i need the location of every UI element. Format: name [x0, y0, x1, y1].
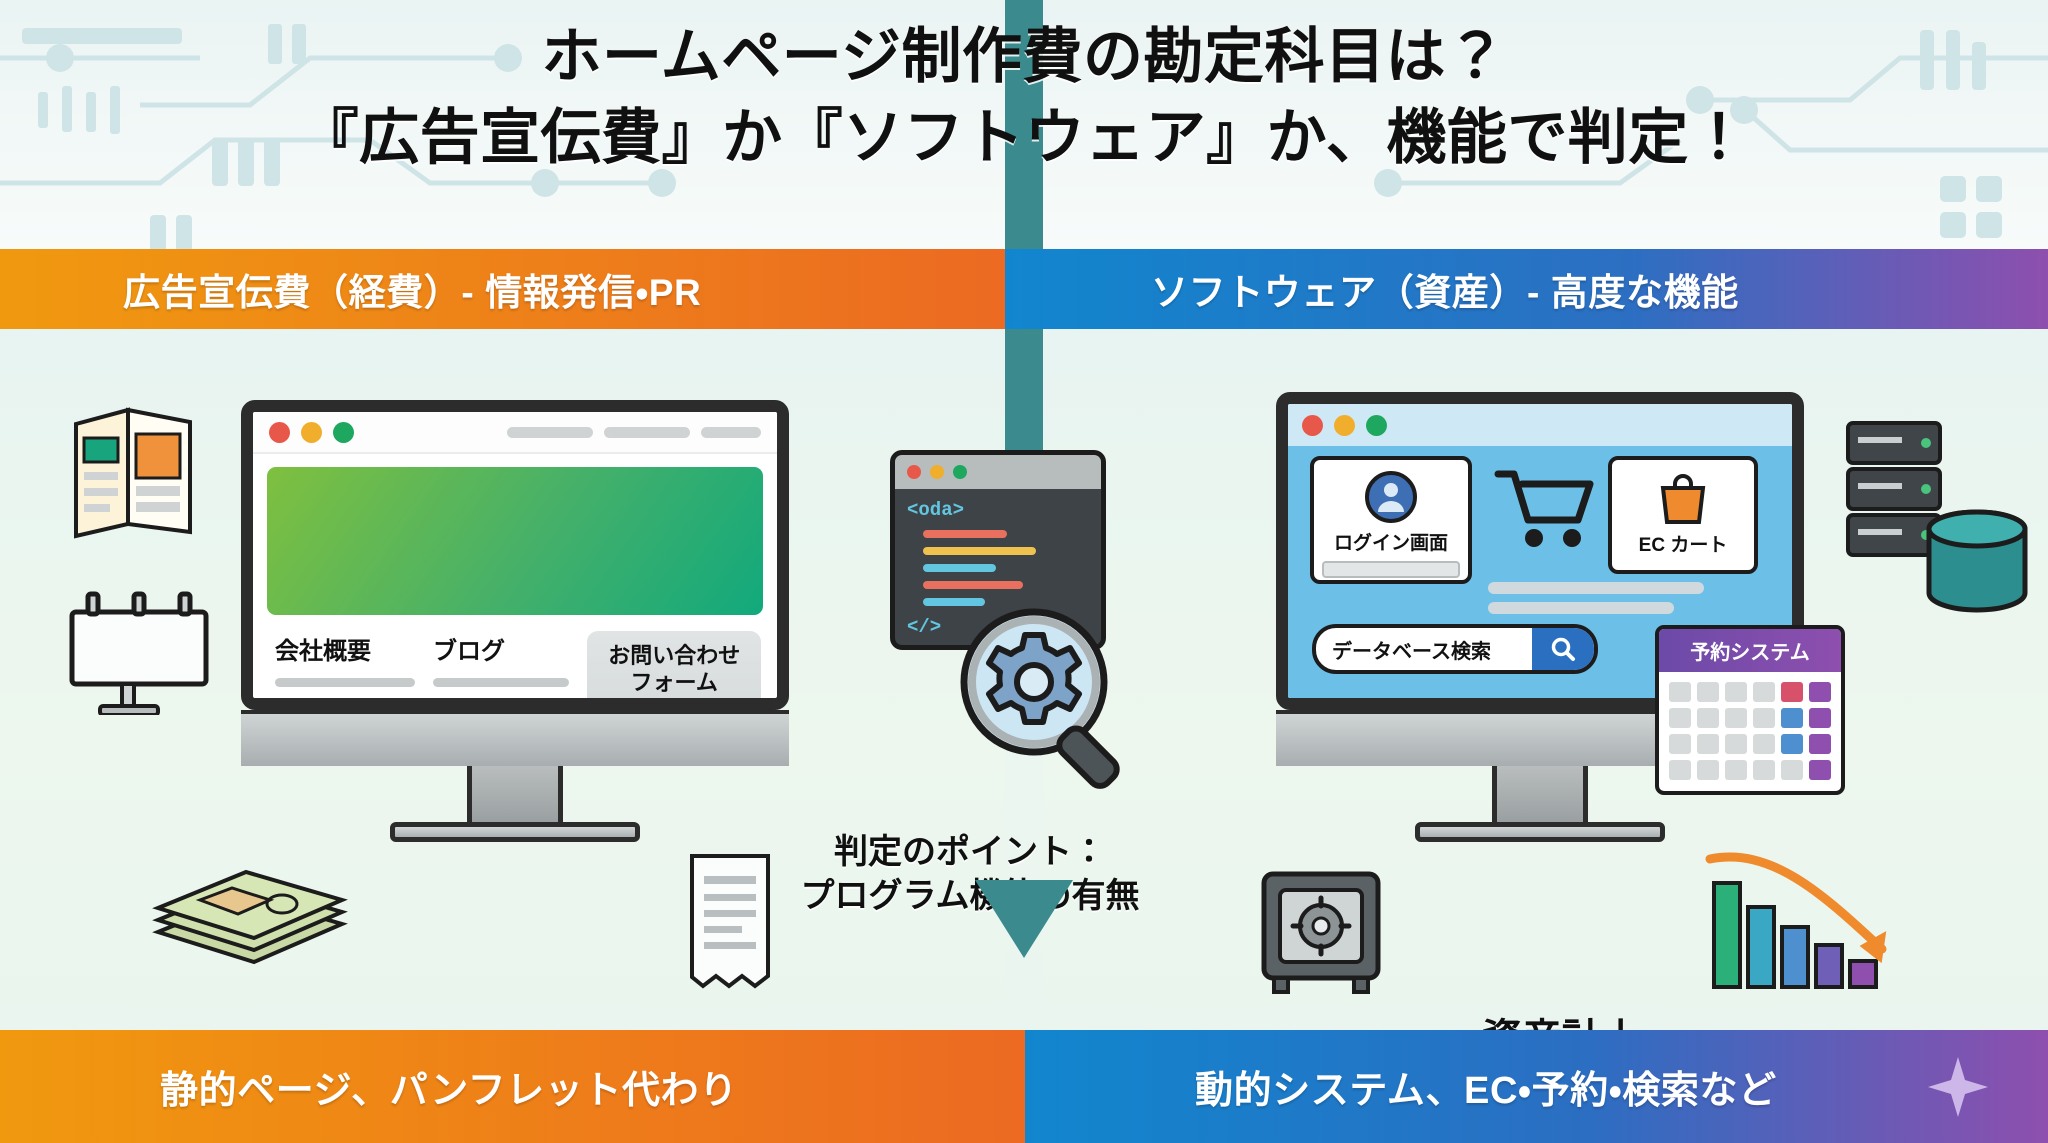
content-line: [1488, 602, 1674, 614]
code-close-dot[interactable]: [907, 465, 921, 479]
hero-banner: [267, 467, 763, 615]
reservation-calendar-card[interactable]: 予約システム: [1655, 625, 1845, 795]
window-maximize-dot[interactable]: [333, 422, 354, 443]
right-monitor-base: [1415, 822, 1665, 842]
login-card-label: ログイン画面: [1322, 528, 1460, 555]
title-line-1: ホームページ制作費の勘定科目は？: [0, 22, 2048, 93]
calendar-cell[interactable]: [1809, 708, 1831, 728]
code-open-tag: <oda>: [907, 499, 1089, 521]
left-monitor-chin: [241, 710, 789, 766]
code-line: [923, 530, 1007, 538]
page-columns: 会社概要 ブログ お問い合わせ フォーム: [253, 615, 777, 710]
shopping-bag-icon: [1657, 470, 1709, 526]
category-band-top: 広告宣伝費（経費）- 情報発信・PR ソフトウェア（資産）- 高度な機能: [0, 249, 2048, 329]
center-caption-line-1: 判定のポイント：: [770, 830, 1170, 874]
calendar-cell[interactable]: [1753, 682, 1775, 702]
calendar-cell[interactable]: [1697, 682, 1719, 702]
down-arrow-icon: [975, 880, 1073, 958]
calendar-cell[interactable]: [1809, 760, 1831, 780]
window-minimize-dot[interactable]: [1334, 415, 1355, 436]
column-blog: ブログ: [433, 631, 569, 710]
category-band-bottom: 静的ページ、パンフレット代わり 動的システム、EC・予約・検索など: [0, 1030, 2048, 1143]
calendar-grid: [1659, 672, 1841, 790]
band-advertising-expense: 広告宣伝費（経費）- 情報発信・PR: [0, 249, 1005, 329]
calendar-cell[interactable]: [1809, 734, 1831, 754]
nav-stub-1: [507, 427, 593, 438]
calendar-cell[interactable]: [1781, 708, 1803, 728]
system-toolbar: [1288, 404, 1792, 446]
column-company: 会社概要: [275, 631, 415, 710]
calendar-cell[interactable]: [1781, 734, 1803, 754]
database-search-bar[interactable]: データベース検索: [1312, 624, 1598, 674]
code-minimize-dot[interactable]: [930, 465, 944, 479]
window-maximize-dot[interactable]: [1366, 415, 1387, 436]
calendar-cell[interactable]: [1809, 682, 1831, 702]
calendar-cell[interactable]: [1669, 682, 1691, 702]
left-website-monitor: 会社概要 ブログ お問い合わせ フォーム: [241, 400, 789, 842]
window-close-dot[interactable]: [1302, 415, 1323, 436]
column-company-heading: 会社概要: [275, 631, 415, 666]
calendar-cell[interactable]: [1697, 734, 1719, 754]
text-line: [433, 698, 569, 707]
text-line: [275, 698, 415, 707]
database-search-value: データベース検索: [1332, 635, 1491, 664]
calendar-cell[interactable]: [1781, 682, 1803, 702]
center-caption-line-2: プログラム機能の有無: [770, 874, 1170, 918]
nav-stub-2: [604, 427, 690, 438]
calendar-cell[interactable]: [1669, 734, 1691, 754]
calendar-cell[interactable]: [1725, 682, 1747, 702]
reservation-calendar-title: 予約システム: [1659, 629, 1841, 672]
band-static-label: 静的ページ、パンフレット代わり: [160, 1059, 738, 1114]
left-monitor-neck: [467, 766, 563, 822]
calendar-cell[interactable]: [1669, 760, 1691, 780]
text-line: [275, 678, 415, 687]
browser-toolbar: [253, 412, 777, 454]
text-line: [433, 678, 569, 687]
receipt-icon: [680, 850, 780, 995]
calendar-cell[interactable]: [1697, 760, 1719, 780]
ec-cart-label: EC カート: [1620, 530, 1746, 557]
band-static-pages: 静的ページ、パンフレット代わり: [0, 1030, 1025, 1143]
title-line-2: 『広告宣伝費』か『ソフトウェア』か、機能で判定！: [0, 103, 2048, 174]
page-title: ホームページ制作費の勘定科目は？ 『広告宣伝費』か『ソフトウェア』か、機能で判定…: [0, 22, 2048, 174]
cash-stack-icon: [150, 862, 350, 980]
magnifier-gear-icon: [952, 600, 1148, 796]
calendar-cell[interactable]: [1669, 708, 1691, 728]
band-software-label: ソフトウェア（資産）- 高度な機能: [1151, 262, 1739, 316]
left-monitor-screen: 会社概要 ブログ お問い合わせ フォーム: [241, 400, 789, 710]
left-monitor-base: [390, 822, 640, 842]
user-avatar-icon: [1364, 470, 1418, 524]
band-advertising-label: 広告宣伝費（経費）- 情報発信・PR: [123, 262, 701, 316]
calendar-cell[interactable]: [1753, 734, 1775, 754]
code-line: [923, 581, 1023, 589]
calendar-cell[interactable]: [1725, 708, 1747, 728]
content-line: [1488, 582, 1704, 594]
safe-vault-icon: [1256, 866, 1386, 994]
calendar-cell[interactable]: [1753, 708, 1775, 728]
infographic-canvas: ホームページ制作費の勘定科目は？ 『広告宣伝費』か『ソフトウェア』か、機能で判定…: [0, 0, 2048, 1143]
login-input[interactable]: [1322, 561, 1460, 578]
code-maximize-dot[interactable]: [953, 465, 967, 479]
center-caption: 判定のポイント： プログラム機能の有無: [770, 830, 1170, 918]
code-window-titlebar: [895, 455, 1101, 489]
contact-form-title-1: お問い合わせ: [601, 643, 747, 670]
right-monitor-neck: [1492, 766, 1588, 822]
window-close-dot[interactable]: [269, 422, 290, 443]
calendar-cell[interactable]: [1753, 760, 1775, 780]
login-card[interactable]: ログイン画面: [1310, 456, 1472, 584]
calendar-cell[interactable]: [1725, 734, 1747, 754]
contact-form-title-2: フォーム: [601, 670, 747, 697]
search-button[interactable]: [1532, 628, 1594, 670]
calendar-cell[interactable]: [1725, 760, 1747, 780]
shopping-cart-icon: [1494, 466, 1598, 552]
code-line: [923, 547, 1036, 555]
billboard-icon: [62, 590, 217, 715]
ec-cart-card[interactable]: EC カート: [1608, 456, 1758, 574]
search-icon: [1550, 636, 1576, 662]
column-blog-heading: ブログ: [433, 631, 569, 666]
band-dynamic-label: 動的システム、EC・予約・検索など: [1195, 1059, 1777, 1114]
window-minimize-dot[interactable]: [301, 422, 322, 443]
code-line: [923, 564, 996, 572]
contact-form-card[interactable]: お問い合わせ フォーム: [587, 631, 761, 710]
calendar-cell[interactable]: [1781, 760, 1803, 780]
band-software-asset: ソフトウェア（資産）- 高度な機能: [1005, 249, 2048, 329]
nav-stub-3: [701, 427, 761, 438]
database-icon: [1918, 505, 2036, 623]
sparkle-icon: [1926, 1055, 1990, 1119]
brochure-icon: [68, 404, 198, 539]
declining-bar-chart-icon: [1700, 845, 1898, 1000]
band-dynamic-systems: 動的システム、EC・予約・検索など: [1025, 1030, 2048, 1143]
calendar-cell[interactable]: [1697, 708, 1719, 728]
